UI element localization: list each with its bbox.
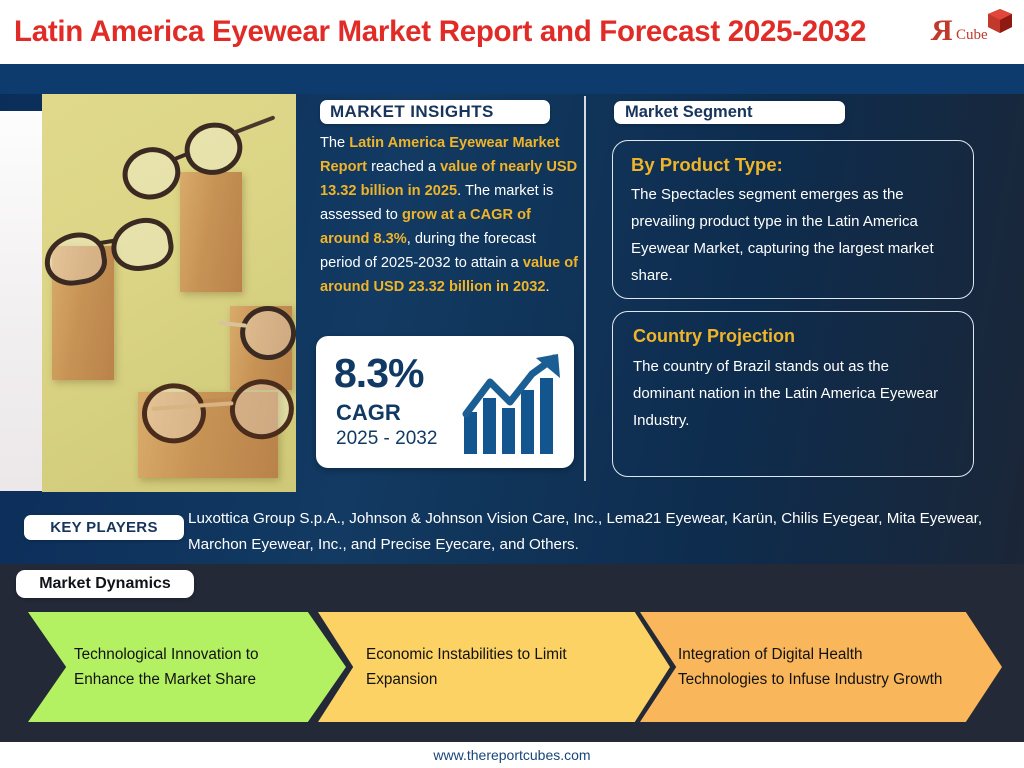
country-projection-body: The country of Brazil stands out as the …: [633, 353, 951, 434]
rcube-logo: R Cube: [931, 8, 1017, 56]
footer-url[interactable]: www.thereportcubes.com: [433, 747, 590, 763]
cagr-card: 8.3% CAGR 2025 - 2032: [316, 336, 574, 468]
product-type-body: The Spectacles segment emerges as the pr…: [631, 181, 957, 289]
lens: [237, 303, 296, 363]
cagr-percent: 8.3%: [334, 350, 423, 397]
dynamics-arrow-3-label: Integration of Digital Health Technologi…: [640, 642, 950, 692]
eyewear-photo: [42, 94, 296, 492]
logo-letter-r: R: [931, 14, 953, 48]
page-title: Latin America Eyewear Market Report and …: [14, 15, 866, 49]
product-type-title: By Product Type:: [631, 154, 783, 176]
lens: [179, 117, 247, 181]
cagr-label: CAGR: [336, 400, 401, 426]
market-insights-paragraph: The Latin America Eyewear Market Report …: [320, 131, 578, 299]
insights-text-0: The: [320, 135, 349, 151]
market-dynamics-arrows: Technological Innovation to Enhance the …: [0, 612, 1024, 722]
top-accent-strip: [0, 64, 1024, 94]
dynamics-arrow-1: Technological Innovation to Enhance the …: [28, 612, 346, 722]
cagr-years: 2025 - 2032: [336, 428, 437, 450]
dynamics-arrow-3: Integration of Digital Health Technologi…: [640, 612, 1002, 722]
eyeglasses-pair: [135, 366, 296, 458]
dynamics-arrow-2: Economic Instabilities to Limit Expansio…: [318, 612, 670, 722]
country-projection-title: Country Projection: [633, 326, 795, 347]
insights-text-8: .: [545, 279, 549, 295]
dynamics-arrow-1-label: Technological Innovation to Enhance the …: [28, 642, 273, 692]
logo-word-cube: Cube: [956, 27, 988, 44]
header: Latin America Eyewear Market Report and …: [0, 0, 1024, 64]
insights-text-2: reached a: [367, 159, 440, 175]
dynamics-arrow-2-label: Economic Instabilities to Limit Expansio…: [318, 642, 568, 692]
cube-icon: [987, 8, 1013, 36]
left-white-slab: [0, 111, 42, 491]
market-segment-label: Market Segment: [614, 101, 845, 124]
key-players-text: Luxottica Group S.p.A., Johnson & Johnso…: [188, 506, 988, 558]
market-dynamics-label: Market Dynamics: [16, 570, 194, 598]
column-divider: [584, 96, 586, 481]
infographic-poster: Latin America Eyewear Market Report and …: [0, 0, 1024, 768]
country-projection-card: Country Projection The country of Brazil…: [612, 311, 974, 477]
market-insights-label: MARKET INSIGHTS: [320, 100, 550, 124]
lens: [140, 381, 208, 445]
product-type-card: By Product Type: The Spectacles segment …: [612, 140, 974, 299]
temple-arm: [233, 115, 276, 135]
footer: www.thereportcubes.com: [0, 742, 1024, 768]
lens: [117, 141, 185, 205]
key-players-label: KEY PLAYERS: [24, 515, 184, 540]
growth-bar-chart-icon: [462, 352, 566, 456]
lens: [107, 214, 176, 275]
lens: [228, 377, 296, 441]
lens: [42, 229, 110, 290]
eyeglasses-pair: [229, 294, 296, 375]
